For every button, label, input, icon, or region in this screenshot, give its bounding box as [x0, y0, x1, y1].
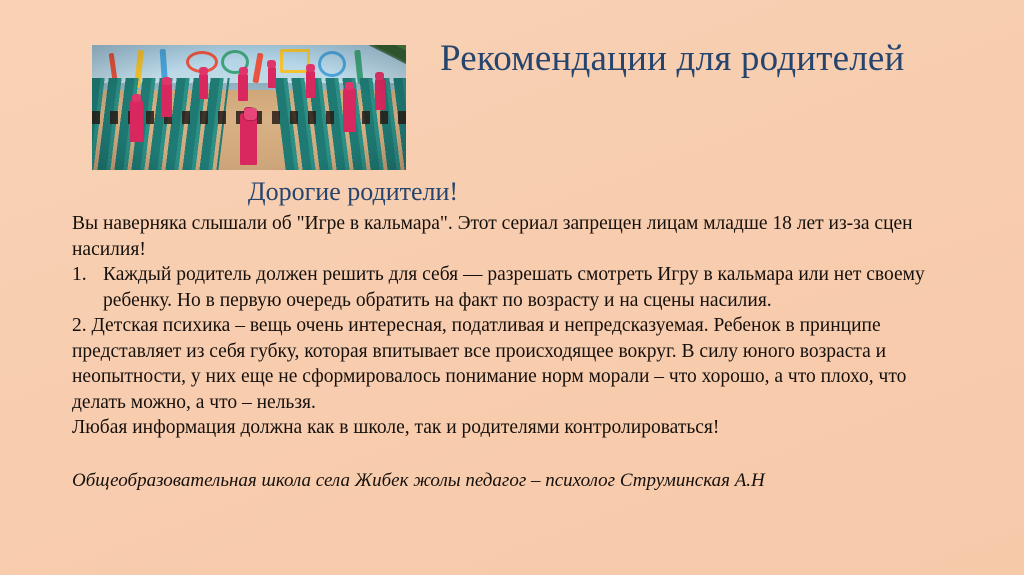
squid-game-photo [92, 45, 406, 170]
list-item-marker: 1. [72, 262, 92, 288]
signature-line: Общеобразовательная школа села Жибек жол… [72, 441, 954, 493]
slide-subtitle: Дорогие родители! [72, 176, 954, 208]
photo-vignette [92, 45, 406, 170]
slide-body: Дорогие родители! Вы наверняка слышали о… [72, 176, 954, 493]
slide-title: Рекомендации для родителей [440, 36, 1000, 82]
list-item-two-paragraph: 2. Детская психика – вещь очень интересн… [72, 313, 954, 415]
intro-paragraph: Вы наверняка слышали об "Игре в кальмара… [72, 211, 954, 262]
list-item: 1. Каждый родитель должен решить для себ… [72, 262, 954, 313]
slide-header: Рекомендации для родителей [0, 0, 1024, 178]
closing-paragraph: Любая информация должна как в школе, так… [72, 415, 954, 441]
slide-canvas: Рекомендации для родителей Дорогие родит… [0, 0, 1024, 575]
list-item-text: Каждый родитель должен решить для себя —… [103, 262, 954, 313]
